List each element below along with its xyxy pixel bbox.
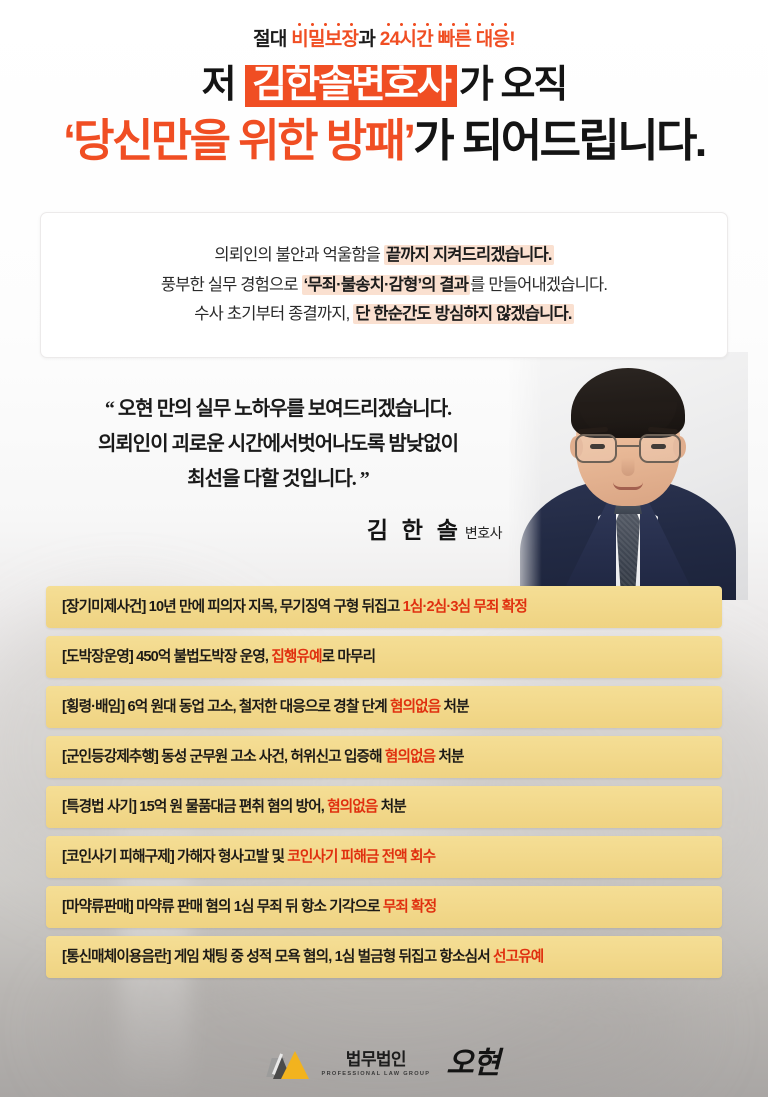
kicker-accent-response: 24시간 빠른 대응! (380, 30, 515, 51)
case-result-row[interactable]: [특경법 사기] 15억 원 물품대금 편취 혐의 방어, 혐의없음 처분 (46, 786, 722, 828)
case-desc: [횡령·배임] 6억 원대 동업 고소, 철저한 대응으로 경찰 단계 (62, 699, 390, 715)
quote-line: “ 오현 만의 실무 노하우를 보여드리겠습니다. (48, 392, 508, 427)
lawyer-name-chip: 김한솔변호사 (245, 65, 457, 107)
glasses-lens-right (639, 434, 681, 463)
quote-signature: 김 한 솔변호사 (48, 511, 508, 545)
promise-line: 수사 초기부터 종결까지, 단 한순간도 방심하지 않겠습니다. (194, 304, 573, 325)
header: 절대 비밀보장과 24시간 빠른 대응! 저 김한솔변호사가 오직 ‘당신만을 … (0, 0, 768, 164)
headline3-rest: 가 되어드립니다. (413, 115, 704, 166)
promise-highlight: ‘무죄·불송치·감형’의 결과 (302, 275, 471, 295)
case-result-text: [마약류판매] 마약류 판매 혐의 1심 무죄 뒤 항소 기각으로 무죄 확정 (62, 900, 436, 915)
promise-highlight: 끝까지 지켜드리겠습니다. (384, 245, 554, 265)
case-result-text: [도박장운영] 450억 불법도박장 운영, 집행유예로 마무리 (62, 650, 375, 665)
case-outcome: 코인사기 피해금 전액 회수 (287, 849, 435, 865)
promise-pre: 풍부한 실무 경험으로 (161, 276, 302, 294)
case-result-row[interactable]: [도박장운영] 450억 불법도박장 운영, 집행유예로 마무리 (46, 636, 722, 678)
promise-pre: 수사 초기부터 종결까지, (194, 305, 353, 323)
case-suffix: 처분 (435, 749, 463, 765)
logo-peak-gold (281, 1051, 309, 1079)
case-suffix: 처분 (378, 799, 406, 815)
case-result-text: [장기미제사건] 10년 만에 피의자 지목, 무기징역 구형 뒤집고 1심·2… (62, 600, 527, 615)
case-desc: [도박장운영] 450억 불법도박장 운영, (62, 649, 271, 665)
headline-line-3: ‘당신만을 위한 방패’가 되어드립니다. (0, 117, 768, 164)
case-result-row[interactable]: [코인사기 피해구제] 가해자 형사고발 및 코인사기 피해금 전액 회수 (46, 836, 722, 878)
case-result-text: [횡령·배임] 6억 원대 동업 고소, 철저한 대응으로 경찰 단계 혐의없음… (62, 700, 469, 715)
case-desc: [통신매체이용음란] 게임 채팅 중 성적 모욕 혐의, 1심 벌금형 뒤집고 … (62, 949, 493, 965)
firm-name-korean: 법무법인 (346, 1051, 406, 1069)
law-firm-mountain-icon (269, 1049, 309, 1079)
kicker-accent-secrecy: 비밀보장 (291, 30, 358, 51)
glasses-bridge (617, 445, 639, 447)
signature-title: 변호사 (465, 527, 502, 542)
case-result-row[interactable]: [마약류판매] 마약류 판매 혐의 1심 무죄 뒤 항소 기각으로 무죄 확정 (46, 886, 722, 928)
case-result-text: [군인등강제추행] 동성 군무원 고소 사건, 허위신고 입증해 혐의없음 처분 (62, 750, 464, 765)
case-desc: [특경법 사기] 15억 원 물품대금 편취 혐의 방어, (62, 799, 327, 815)
kicker-plain-2: 과 (358, 29, 379, 50)
firm-name-block: 법무법인 PROFESSIONAL LAW GROUP (322, 1051, 431, 1077)
quote-line: 최선을 다할 것입니다. ” (48, 462, 508, 497)
case-result-row[interactable]: [통신매체이용음란] 게임 채팅 중 성적 모욕 혐의, 1심 벌금형 뒤집고 … (46, 936, 722, 978)
case-outcome: 무죄 확정 (383, 899, 437, 915)
case-result-row[interactable]: [장기미제사건] 10년 만에 피의자 지목, 무기징역 구형 뒤집고 1심·2… (46, 586, 722, 628)
case-outcome: 혐의없음 (327, 799, 377, 815)
case-outcome: 집행유예 (271, 649, 321, 665)
signature-name: 김 한 솔 (367, 518, 462, 543)
case-result-row[interactable]: [군인등강제추행] 동성 군무원 고소 사건, 허위신고 입증해 혐의없음 처분 (46, 736, 722, 778)
promise-line: 풍부한 실무 경험으로 ‘무죄·불송치·감형’의 결과를 만들어내겠습니다. (161, 275, 607, 296)
kicker-plain-1: 절대 (253, 29, 291, 50)
case-outcome: 혐의없음 (385, 749, 435, 765)
promise-pre: 의뢰인의 불안과 억울함을 (214, 246, 384, 264)
promise-box: 의뢰인의 불안과 억울함을 끝까지 지켜드리겠습니다. 풍부한 실무 경험으로 … (40, 212, 728, 358)
case-results-list: [장기미제사건] 10년 만에 피의자 지목, 무기징역 구형 뒤집고 1심·2… (46, 586, 722, 978)
case-suffix: 처분 (440, 699, 468, 715)
case-desc: [코인사기 피해구제] 가해자 형사고발 및 (62, 849, 287, 865)
firm-brand-calligraphy: 오현 (446, 1049, 499, 1079)
case-outcome: 1심·2심·3심 무죄 확정 (403, 599, 527, 615)
portrait-nose (622, 458, 635, 476)
case-result-text: [코인사기 피해구제] 가해자 형사고발 및 코인사기 피해금 전액 회수 (62, 850, 435, 865)
promise-highlight: 단 한순간도 방심하지 않겠습니다. (353, 304, 573, 324)
glasses-lens-left (575, 434, 617, 463)
poster-root: 절대 비밀보장과 24시간 빠른 대응! 저 김한솔변호사가 오직 ‘당신만을 … (0, 0, 768, 1097)
case-desc: [마약류판매] 마약류 판매 혐의 1심 무죄 뒤 항소 기각으로 (62, 899, 383, 915)
headline2-before: 저 (202, 64, 244, 106)
headline3-shield-phrase: ‘당신만을 위한 방패’ (63, 115, 413, 166)
quote-line: 의뢰인이 괴로운 시간에서벗어나도록 밤낮없이 (48, 427, 508, 462)
case-result-text: [통신매체이용음란] 게임 채팅 중 성적 모욕 혐의, 1심 벌금형 뒤집고 … (62, 950, 543, 965)
case-desc: [장기미제사건] 10년 만에 피의자 지목, 무기징역 구형 뒤집고 (62, 599, 403, 615)
case-outcome: 혐의없음 (390, 699, 440, 715)
headline2-after: 가 오직 (459, 64, 566, 106)
lawyer-portrait (508, 352, 748, 600)
case-result-row[interactable]: [횡령·배임] 6억 원대 동업 고소, 철저한 대응으로 경찰 단계 혐의없음… (46, 686, 722, 728)
lawyer-quote: “ 오현 만의 실무 노하우를 보여드리겠습니다. 의뢰인이 괴로운 시간에서벗… (48, 392, 508, 545)
promise-line: 의뢰인의 불안과 억울함을 끝까지 지켜드리겠습니다. (214, 245, 553, 266)
promise-post: 를 만들어내겠습니다. (470, 276, 607, 294)
firm-name-english: PROFESSIONAL LAW GROUP (322, 1071, 431, 1077)
headline-line-2: 저 김한솔변호사가 오직 (0, 65, 768, 107)
case-outcome: 선고유예 (493, 949, 543, 965)
case-suffix: 로 마무리 (322, 649, 376, 665)
case-desc: [군인등강제추행] 동성 군무원 고소 사건, 허위신고 입증해 (62, 749, 385, 765)
footer-logo-bar: 법무법인 PROFESSIONAL LAW GROUP 오현 (0, 1049, 768, 1079)
header-kicker: 절대 비밀보장과 24시간 빠른 대응! (0, 30, 768, 51)
portrait-mouth (613, 482, 643, 490)
case-result-text: [특경법 사기] 15억 원 물품대금 편취 혐의 방어, 혐의없음 처분 (62, 800, 406, 815)
